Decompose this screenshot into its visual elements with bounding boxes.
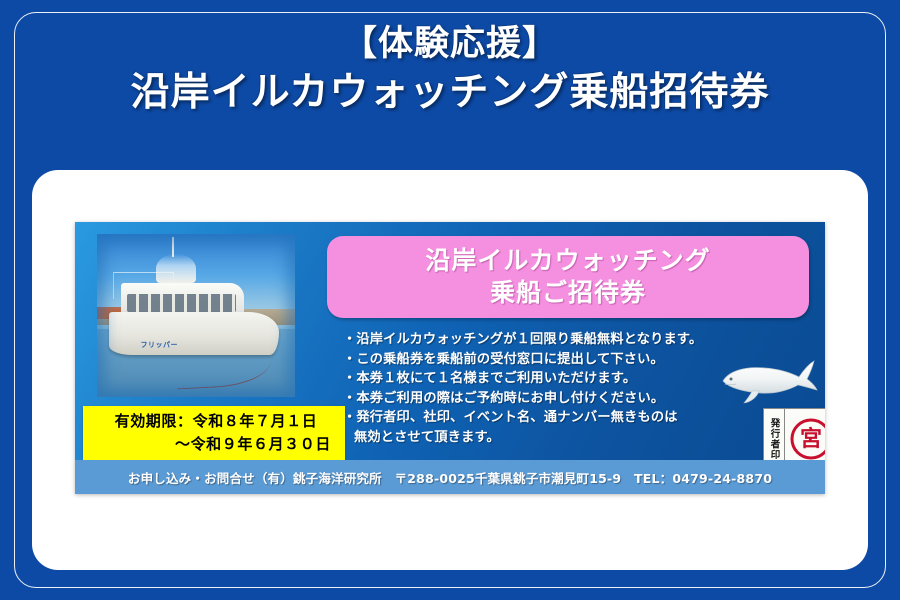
boat-photo: フリッパー xyxy=(97,234,295,397)
poster-header: 【体験応援】 沿岸イルカウォッチング乗船招待券 xyxy=(0,22,900,118)
list-item: ・沿岸イルカウォッチングが１回限り乗船無料となります。 xyxy=(343,330,783,350)
ticket-title-line-2: 乗船ご招待券 xyxy=(490,277,646,309)
header-line-2: 沿岸イルカウォッチング乗船招待券 xyxy=(0,68,900,118)
list-item: ・発行者印、社印、イベント名、通ナンバー無きものは無効とさせて頂きます。 xyxy=(343,408,783,447)
bullet-text: 発行者印、社印、イベント名、通ナンバー無きものは xyxy=(356,410,677,425)
contact-bar: お申し込み・お問合せ（有）銚子海洋研究所 〒288-0025千葉県銚子市潮見町1… xyxy=(75,460,825,494)
ticket-title-line-1: 沿岸イルカウォッチング xyxy=(425,245,710,277)
bullet-text: 本券１枚にて１名様までご利用いただけます。 xyxy=(356,371,636,386)
ticket-title-box: 沿岸イルカウォッチング 乗船ご招待券 xyxy=(327,236,809,318)
bullet-marker: ・ xyxy=(343,332,356,347)
boat-name-label: フリッパー xyxy=(141,340,179,350)
bullet-marker: ・ xyxy=(343,371,356,386)
validity-line-1: 有効期限：令和８年７月１日 xyxy=(83,410,345,433)
bullet-text: 本券ご利用の際はご予約時にお申し付けください。 xyxy=(356,391,664,406)
bullet-marker: ・ xyxy=(343,352,356,367)
bullet-marker: ・ xyxy=(343,391,356,406)
header-line-1: 【体験応援】 xyxy=(0,22,900,66)
bullet-marker: ・ xyxy=(343,410,356,425)
bullet-text: この乗船券を乗船前の受付窓口に提出して下さい。 xyxy=(356,352,664,367)
contact-text: お申し込み・お問合せ（有）銚子海洋研究所 〒288-0025千葉県銚子市潮見町1… xyxy=(128,468,772,487)
seal-mark-char: 宮 xyxy=(799,426,821,452)
validity-period-box: 有効期限：令和８年７月１日 ～令和９年６月３０日 xyxy=(83,406,345,460)
dolphin-icon xyxy=(715,355,819,407)
invitation-ticket: フリッパー 沿岸イルカウォッチング 乗船ご招待券 ・沿岸イルカウォッチングが１回… xyxy=(75,222,825,494)
bullet-text: 沿岸イルカウォッチングが１回限り乗船無料となります。 xyxy=(356,332,702,347)
validity-line-2: ～令和９年６月３０日 xyxy=(83,433,345,456)
poster-root: 【体験応援】 沿岸イルカウォッチング乗船招待券 フリッパー xyxy=(0,0,900,600)
bullet-text-continued: 無効とさせて頂きます。 xyxy=(343,428,783,448)
